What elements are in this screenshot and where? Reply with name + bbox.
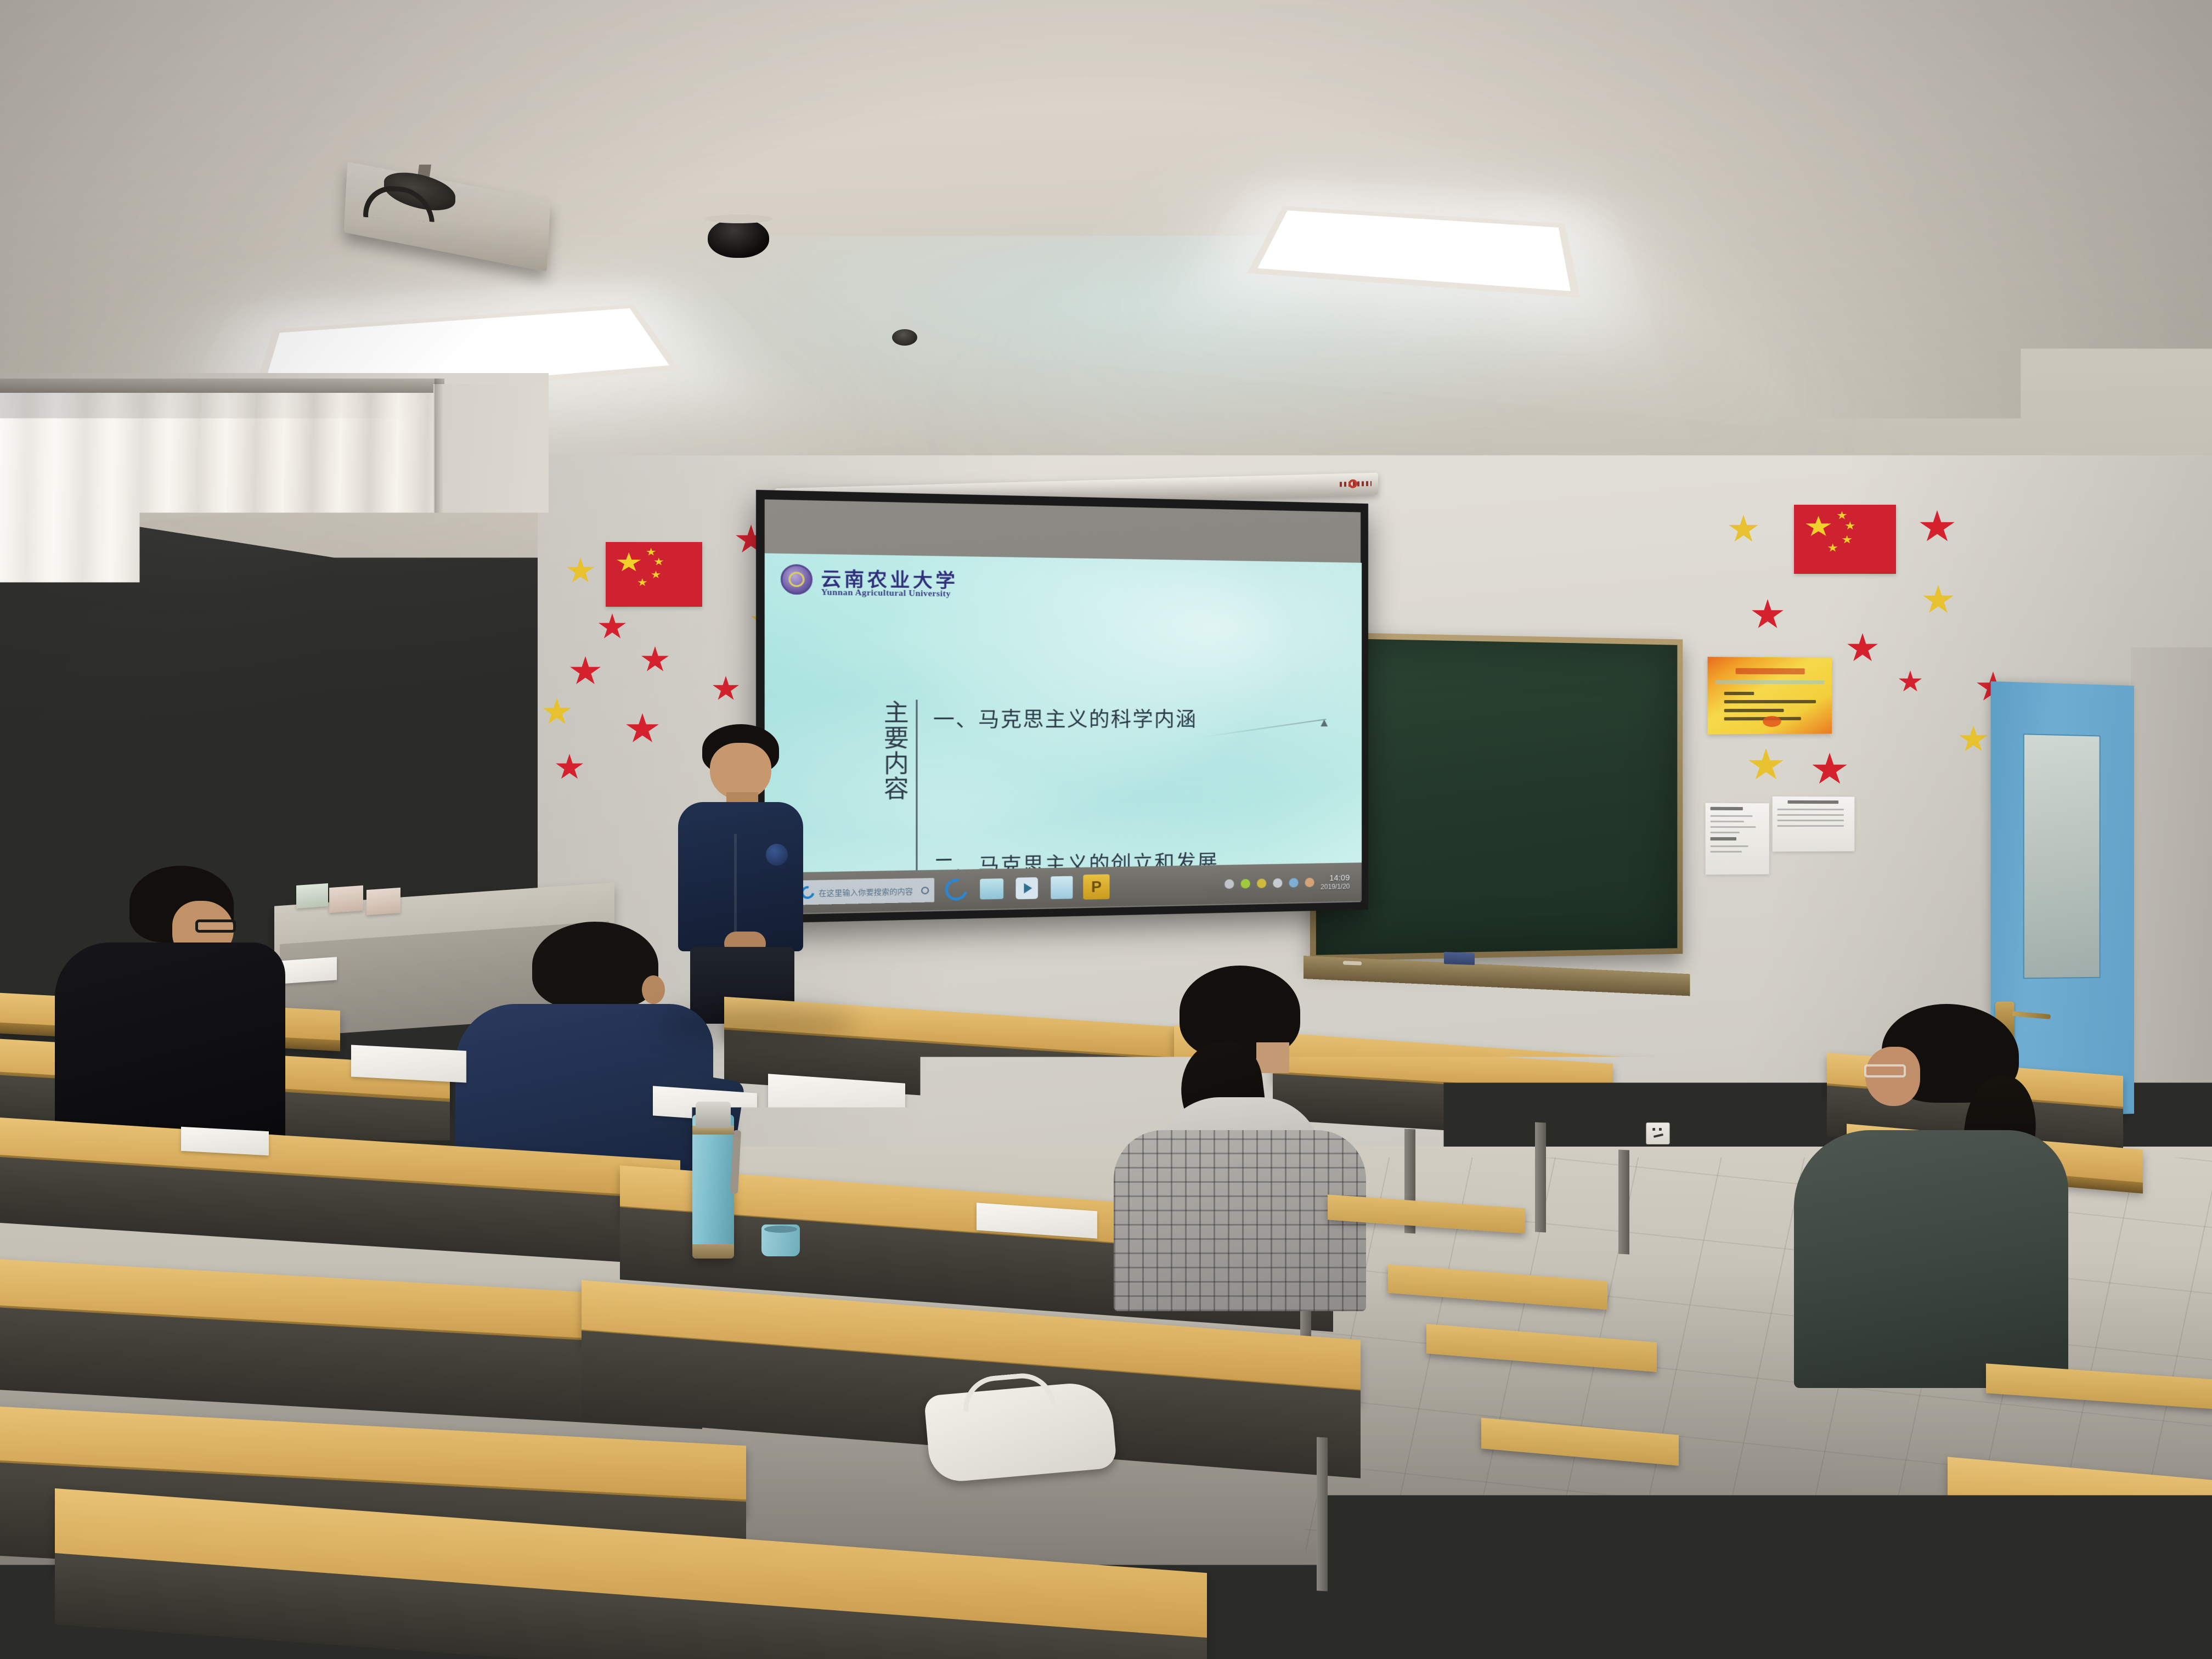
thermos-cap[interactable] <box>696 1102 731 1128</box>
floor-shadow <box>1481 1383 1865 1448</box>
presentation-slide: 云南农业大学 Yunnan Agricultural University 主要… <box>765 553 1362 873</box>
student-middle-hair <box>532 922 658 1009</box>
media-player-icon[interactable] <box>1013 875 1040 902</box>
flag-small-star-icon <box>637 578 647 586</box>
dome-camera-icon <box>708 218 769 258</box>
screen-logo-icon <box>1348 479 1357 488</box>
student-right-coat <box>1794 1130 2068 1388</box>
search-placeholder-text: 在这里输入你要搜索的内容 <box>819 885 917 898</box>
student-left <box>55 861 318 1169</box>
flag-small-star-icon <box>654 557 664 566</box>
system-tray[interactable]: 14:09 2019/1/20 <box>1224 873 1355 893</box>
flag-small-star-icon <box>1842 535 1852 544</box>
university-logo-icon <box>781 564 812 595</box>
slide-divider <box>916 699 917 873</box>
paper-sheet <box>351 1045 466 1082</box>
china-flag-left <box>606 542 702 607</box>
chalkboard-surface <box>1316 638 1677 955</box>
student-front-center-coat <box>1114 1130 1366 1311</box>
chalk-stick[interactable] <box>1343 961 1362 965</box>
notice-sheet <box>1706 803 1769 875</box>
presenter-jacket-badge <box>766 844 788 866</box>
paper-sheet <box>181 1127 269 1155</box>
plastic-bag <box>924 1380 1118 1483</box>
cursor-icon: ▲ <box>1318 715 1330 730</box>
presenter-face <box>710 743 771 800</box>
desk-leg <box>1618 1149 1629 1254</box>
flag-big-star-icon <box>1805 516 1831 538</box>
slide-vertical-label: 主要内容 <box>881 699 916 873</box>
wall-corner <box>435 379 443 982</box>
powerpoint-glyph: P <box>1083 874 1109 900</box>
battery-icon[interactable] <box>1305 878 1314 887</box>
slide-item-list: 一、马克思主义的科学内涵 二、马克思主义的创立和发展 <box>933 699 1218 873</box>
flag-small-star-icon <box>1837 511 1847 520</box>
ceiling-sensor-icon <box>892 329 917 346</box>
cloud-icon[interactable] <box>1224 879 1234 889</box>
taskbar-clock[interactable]: 14:09 2019/1/20 <box>1321 873 1350 890</box>
desk-leg <box>1317 1437 1328 1591</box>
thermos-flask[interactable] <box>692 1115 734 1259</box>
desk-box <box>366 888 400 915</box>
projection-screen[interactable]: 云南农业大学 Yunnan Agricultural University 主要… <box>756 490 1368 923</box>
security-icon[interactable] <box>1289 878 1298 888</box>
flag-big-star-icon <box>616 552 641 573</box>
file-explorer-icon[interactable] <box>978 876 1005 902</box>
student-right <box>1783 1004 2068 1388</box>
student-middle-ear <box>642 975 665 1004</box>
door-glass-panel <box>2023 733 2101 979</box>
search-icon <box>921 887 929 894</box>
clock-date: 2019/1/20 <box>1321 883 1350 891</box>
shield-icon[interactable] <box>1240 879 1250 889</box>
right-wall-segment <box>2131 647 2212 1141</box>
student-right-glasses <box>1864 1064 1906 1077</box>
floor-shadow <box>658 1004 856 1042</box>
wall-poster <box>1708 657 1832 734</box>
student-front-center-neck <box>1256 1042 1289 1073</box>
flag-small-star-icon <box>1827 544 1838 552</box>
generic-app-icon[interactable] <box>1048 874 1075 901</box>
network-icon[interactable] <box>1257 879 1266 889</box>
drinking-cup[interactable] <box>761 1224 800 1256</box>
flag-small-star-icon <box>1845 521 1855 530</box>
internet-explorer-icon[interactable] <box>943 876 970 903</box>
china-flag-right <box>1794 505 1896 574</box>
flag-small-star-icon <box>646 548 656 556</box>
powerpoint-icon[interactable]: P <box>1083 874 1109 900</box>
student-left-glasses <box>195 919 236 933</box>
slide-item: 一、马克思主义的科学内涵 <box>933 703 1218 733</box>
classroom-photo: 云南农业大学 Yunnan Agricultural University 主要… <box>0 0 2212 1659</box>
chalkboard-eraser[interactable] <box>1444 952 1475 965</box>
slide-content: 主要内容 一、马克思主义的科学内涵 二、马克思主义的创立和发展 <box>881 699 1218 873</box>
student-front-center <box>1092 966 1377 1306</box>
desk-box <box>329 885 363 913</box>
university-name-en: Yunnan Agricultural University <box>821 588 951 600</box>
notice-sheet <box>1773 797 1855 852</box>
thermos-base <box>692 1244 734 1259</box>
volume-icon[interactable] <box>1273 878 1282 888</box>
clock-time: 14:09 <box>1329 873 1350 883</box>
curtain-rail <box>0 379 444 393</box>
flag-small-star-icon <box>651 571 661 579</box>
